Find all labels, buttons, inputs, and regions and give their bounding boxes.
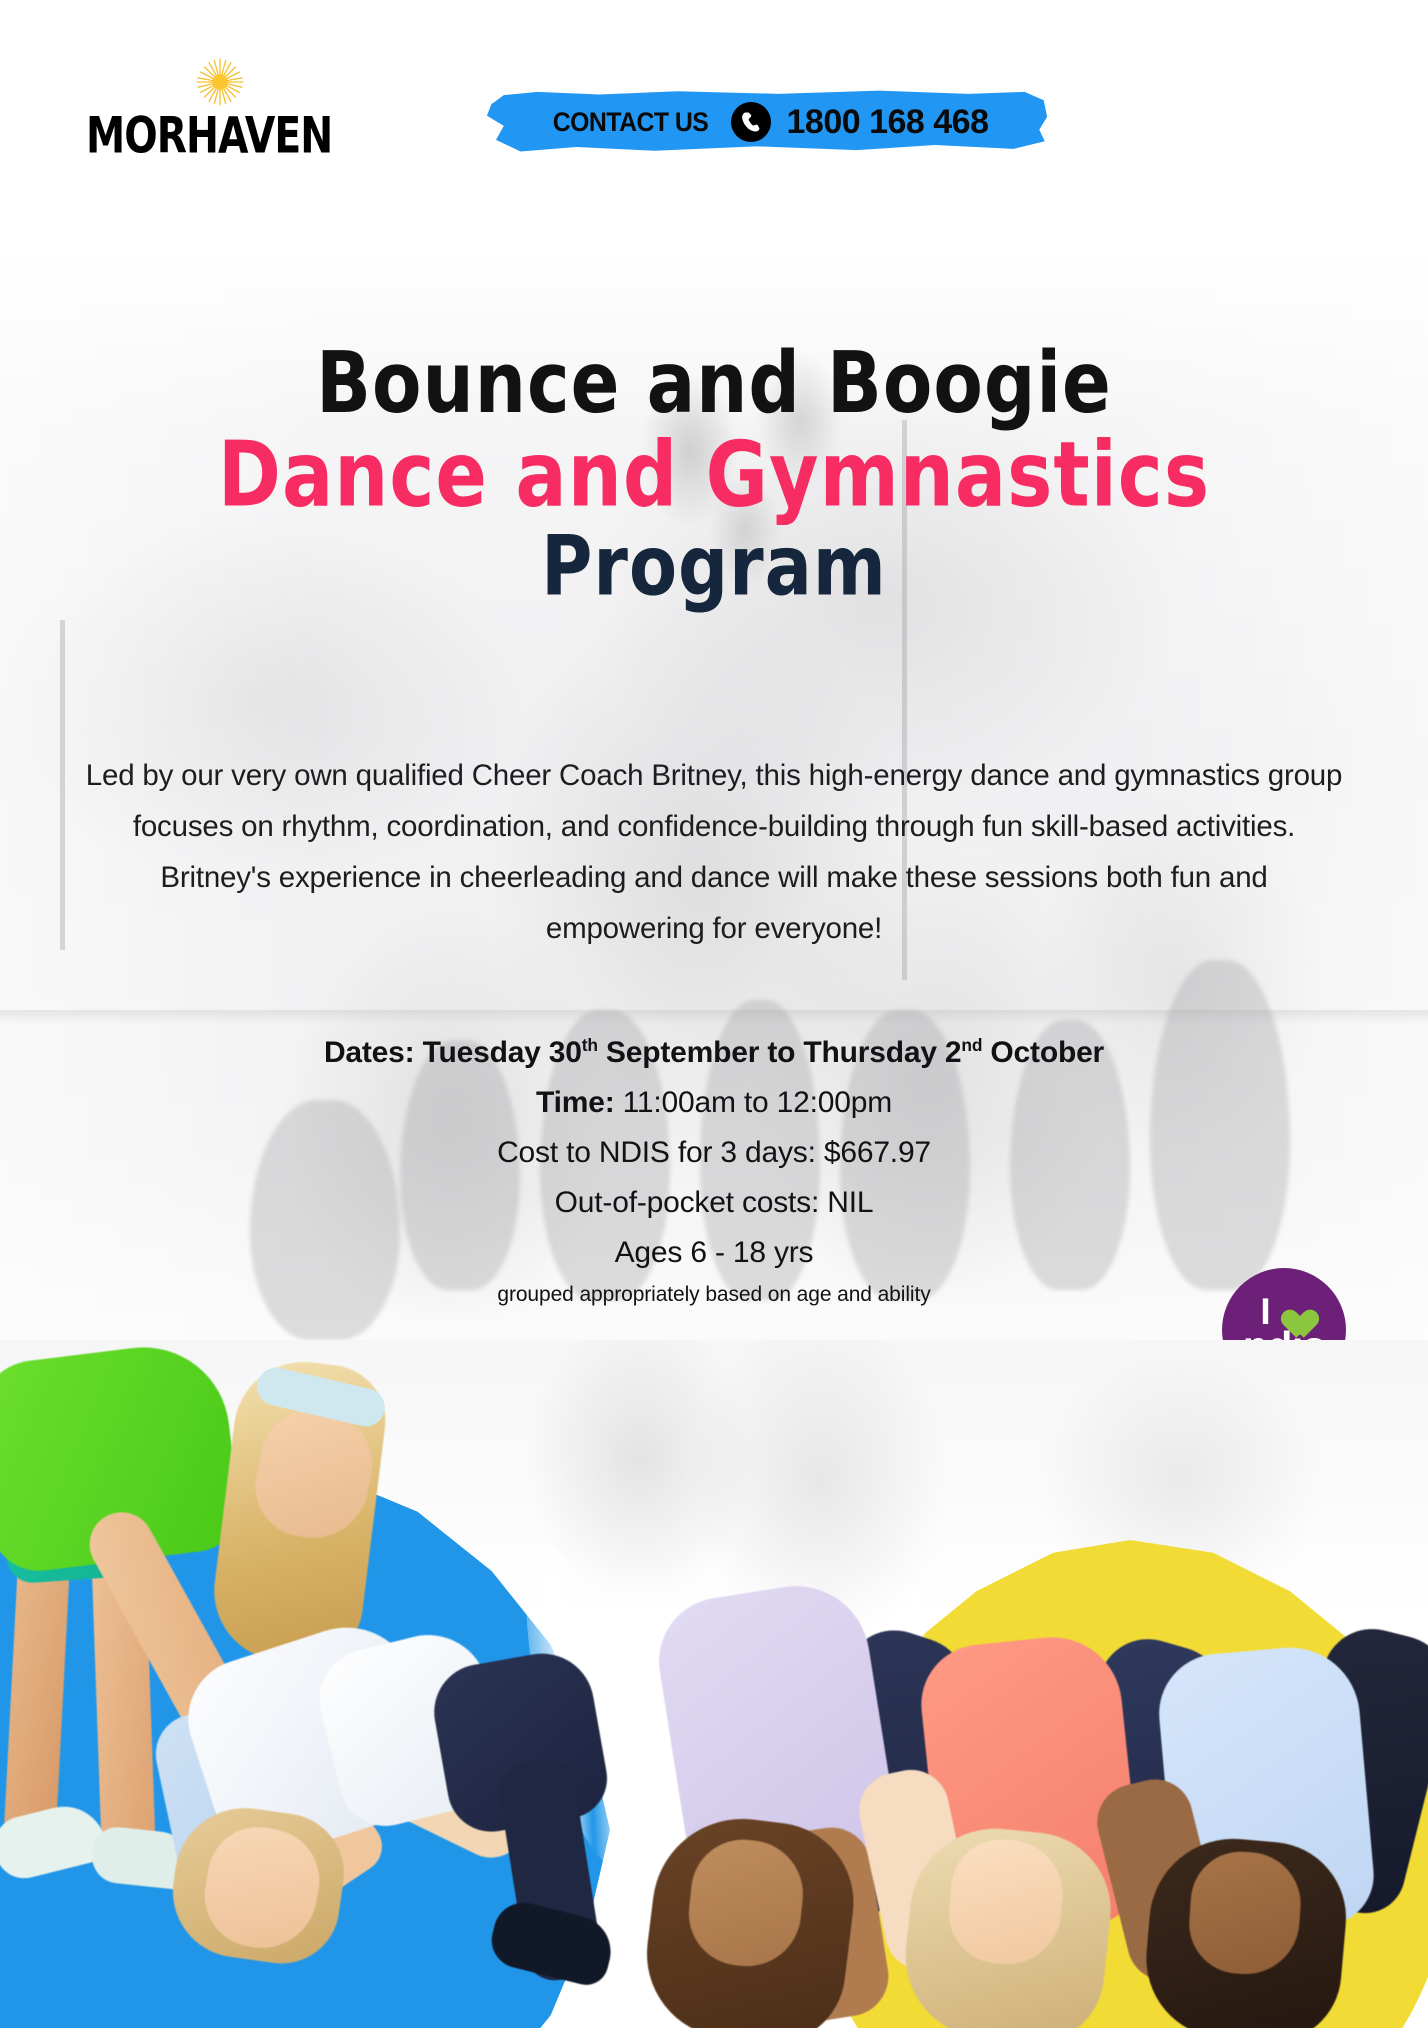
detail-ages: Ages 6 - 18 yrs [84,1228,1344,1278]
phone-icon[interactable] [731,102,771,142]
detail-dates: Dates: Tuesday 30th September to Thursda… [84,1028,1344,1078]
detail-grouping-note: grouped appropriately based on age and a… [84,1278,1344,1312]
description-block: Led by our very own qualified Cheer Coac… [84,750,1344,954]
sun-icon [194,56,246,108]
heart-icon [1274,1296,1308,1328]
title-line-2: Dance and Gymnastics [0,429,1428,520]
description-paragraph-2: Britney's experience in cheerleading and… [84,852,1344,954]
description-paragraph-1: Led by our very own qualified Cheer Coac… [84,750,1344,852]
detail-time-value: 11:00am to 12:00pm [623,1086,892,1119]
background-pole-left [60,620,65,950]
title-block: Bounce and Boogie Dance and Gymnastics P… [0,340,1428,596]
detail-dates-sup-a: th [582,1035,598,1055]
detail-dates-value-c: October [982,1036,1104,1069]
contact-label: CONTACT US [552,107,707,138]
details-block: Dates: Tuesday 30th September to Thursda… [84,1028,1344,1312]
title-line-1: Bounce and Boogie [0,340,1428,427]
detail-dates-value-a: Tuesday 30 [423,1036,582,1069]
flyer-poster: MORHAVEN CONTACT US 1800 168 468 Bounce … [0,0,1428,2028]
detail-dates-sup-b: nd [961,1035,982,1055]
brand-name: MORHAVEN [86,106,326,165]
contact-phone-number[interactable]: 1800 168 468 [787,103,989,142]
detail-dates-value-b: September to Thursday 2 [598,1036,962,1069]
detail-dates-label: Dates: [324,1036,415,1069]
title-line-3: Program [0,525,1428,609]
photo-collage [0,1340,1428,2028]
detail-time-label: Time: [536,1086,614,1119]
detail-out-of-pocket: Out-of-pocket costs: NIL [84,1178,1344,1228]
detail-time: Time: 11:00am to 12:00pm [84,1078,1344,1128]
contact-banner[interactable]: CONTACT US 1800 168 468 [487,90,1047,154]
detail-cost: Cost to NDIS for 3 days: $667.97 [84,1128,1344,1178]
